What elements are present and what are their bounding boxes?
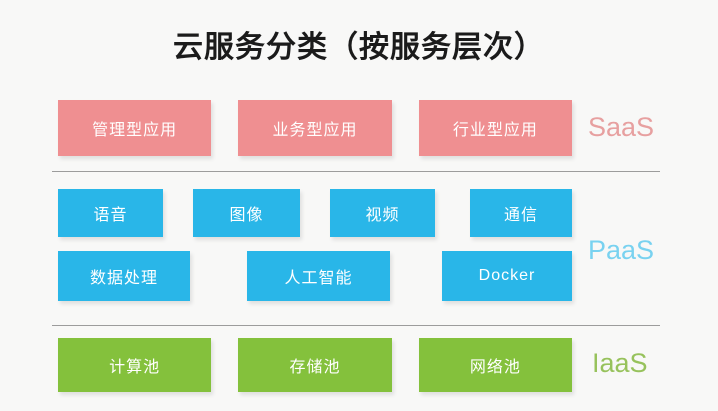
saas-row: 管理型应用 业务型应用 行业型应用	[58, 100, 572, 156]
paas-row-2: 数据处理 人工智能 Docker	[58, 251, 572, 301]
paas-box-voice[interactable]: 语音	[58, 189, 163, 237]
gap	[392, 128, 419, 129]
paas-box-communication[interactable]: 通信	[470, 189, 572, 237]
paas-box-video[interactable]: 视频	[330, 189, 435, 237]
gap	[211, 128, 238, 129]
saas-box-management-app[interactable]: 管理型应用	[58, 100, 211, 156]
cloud-service-layers-diagram: 云服务分类（按服务层次） 管理型应用 业务型应用 行业型应用 SaaS 语音 图…	[0, 0, 718, 411]
saas-box-business-app[interactable]: 业务型应用	[238, 100, 391, 156]
paas-box-image[interactable]: 图像	[193, 189, 300, 237]
page-title: 云服务分类（按服务层次）	[0, 28, 718, 68]
paas-box-docker[interactable]: Docker	[442, 251, 572, 301]
gap	[211, 365, 238, 366]
gap	[190, 276, 247, 277]
gap	[300, 213, 330, 214]
iaas-box-storage-pool[interactable]: 存储池	[238, 338, 391, 392]
paas-box-ai[interactable]: 人工智能	[247, 251, 390, 301]
divider-saas-paas	[52, 171, 660, 172]
layer-label-saas: SaaS	[588, 112, 654, 142]
iaas-box-network-pool[interactable]: 网络池	[419, 338, 572, 392]
gap	[392, 365, 419, 366]
gap	[435, 213, 470, 214]
gap	[163, 213, 193, 214]
iaas-row: 计算池 存储池 网络池	[58, 338, 572, 392]
paas-box-data-processing[interactable]: 数据处理	[58, 251, 190, 301]
layer-label-paas: PaaS	[588, 235, 654, 265]
divider-paas-iaas	[52, 325, 660, 326]
iaas-box-compute-pool[interactable]: 计算池	[58, 338, 211, 392]
saas-box-industry-app[interactable]: 行业型应用	[419, 100, 572, 156]
gap	[390, 276, 442, 277]
paas-row-1: 语音 图像 视频 通信	[58, 189, 572, 237]
layer-label-iaas: IaaS	[592, 348, 648, 378]
